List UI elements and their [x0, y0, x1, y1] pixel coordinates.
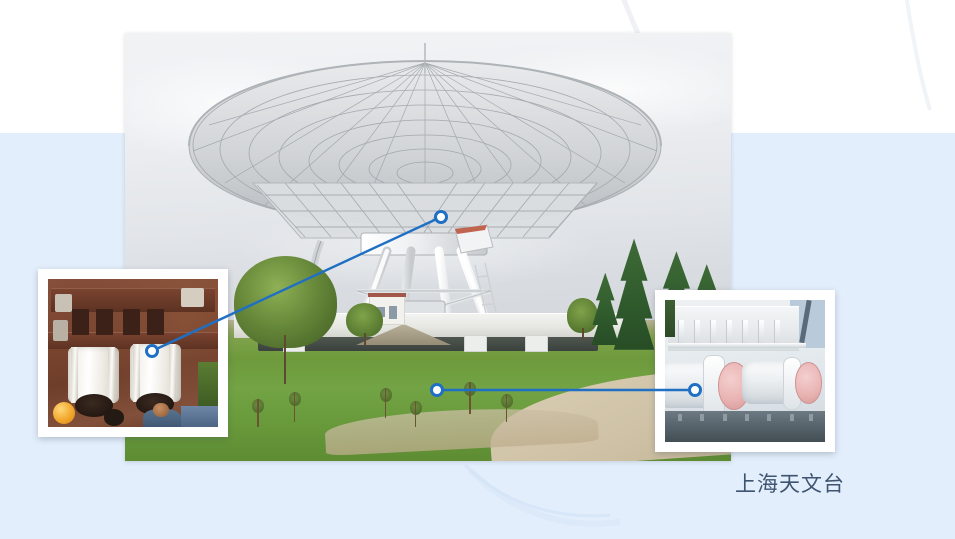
base-bolt: [723, 414, 727, 421]
machine-fin: [710, 320, 716, 346]
base-bolt: [809, 414, 813, 421]
sapling: [464, 382, 476, 414]
tree-mid-1: [346, 303, 382, 346]
tree-crown: [234, 256, 337, 348]
tree-trunk: [364, 333, 366, 346]
sapling: [289, 392, 301, 422]
rust-bracket: [55, 294, 72, 312]
base-bolt: [700, 414, 704, 421]
cylinder-band: [108, 347, 115, 403]
machine-fin: [694, 320, 700, 346]
rust-bracket: [53, 320, 68, 341]
machine-fin: [742, 320, 748, 346]
tree-trunk: [582, 328, 584, 341]
callout-dot-telescope-base[interactable]: [430, 383, 444, 397]
base-bolt: [790, 414, 794, 421]
machine-rail: [668, 343, 806, 349]
machine-fin: [726, 320, 732, 346]
base-pier-3: [525, 335, 548, 352]
rust-slot: [72, 309, 89, 336]
worker-head: [153, 403, 168, 416]
blue-tarp: [181, 406, 218, 427]
sapling: [410, 401, 422, 427]
tree-edge: [665, 300, 675, 337]
sapling: [252, 399, 264, 427]
sapling: [501, 394, 513, 422]
rust-slot: [147, 309, 164, 336]
slide-canvas: 上海天文台: [0, 0, 955, 539]
orange-sphere: [53, 402, 75, 424]
tree-trunk: [284, 335, 286, 384]
grass-edge: [198, 362, 218, 406]
rust-slot: [123, 309, 140, 336]
machine-fin: [678, 320, 684, 346]
rust-slot: [96, 309, 113, 336]
pink-cap-rear: [795, 362, 823, 404]
cylinder-band: [169, 344, 176, 402]
machine-fin: [758, 320, 764, 346]
base-pier-2: [464, 335, 487, 352]
base-bolt: [678, 414, 682, 421]
cylinder-band: [71, 347, 78, 403]
tree-mid-2: [567, 298, 597, 341]
cylinder-band: [133, 344, 140, 402]
dark-object: [104, 409, 124, 425]
inset-right[interactable]: [655, 290, 835, 452]
machine-fin: [774, 320, 780, 346]
inset-left-image: [48, 279, 218, 427]
callout-dot-telescope-mount[interactable]: [434, 210, 448, 224]
callout-dot-inset-left[interactable]: [145, 344, 159, 358]
callout-dot-inset-right[interactable]: [688, 383, 702, 397]
hut-door: [389, 306, 397, 320]
caption-label: 上海天文台: [735, 471, 845, 497]
base-bolt: [745, 414, 749, 421]
hut-roof: [368, 293, 406, 297]
inset-left[interactable]: [38, 269, 228, 437]
base-bolt: [767, 414, 771, 421]
tree-left: [234, 256, 337, 384]
rust-bracket: [181, 288, 205, 307]
sapling: [380, 388, 392, 418]
inset-right-image: [665, 300, 825, 442]
